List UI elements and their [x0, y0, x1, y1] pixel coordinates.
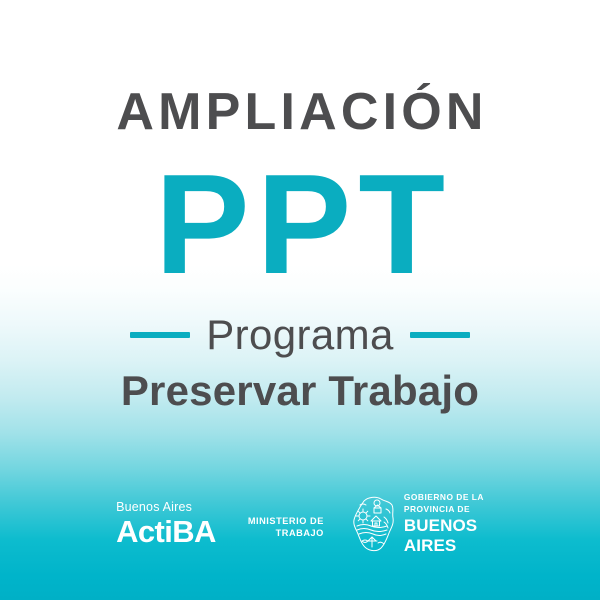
dash-rule-right — [410, 332, 470, 338]
program-acronym: PPT — [0, 154, 600, 296]
footer-logo-bar: Buenos Aires ActiBA MINISTERIO DE TRABAJ… — [0, 490, 600, 600]
logo-ministerio-trabajo: MINISTERIO DE TRABAJO — [248, 509, 324, 540]
government-line-4: AIRES — [404, 537, 484, 555]
buenos-aires-province-emblem-icon — [350, 495, 396, 553]
dash-rule-left — [130, 332, 190, 338]
ministry-line-2: TRABAJO — [248, 527, 324, 539]
program-name: Preservar Trabajo — [0, 370, 600, 412]
poster-canvas: AMPLIACIÓN PPT Programa Preservar Trabaj… — [0, 0, 600, 600]
program-label: Programa — [206, 314, 394, 356]
ministry-line-1: MINISTERIO DE — [248, 515, 324, 527]
government-line-2: PROVINCIA DE — [404, 504, 484, 515]
government-wordmark: GOBIERNO DE LA PROVINCIA DE BUENOS AIRES — [404, 492, 484, 555]
government-line-3: BUENOS — [404, 517, 484, 535]
actiba-wordmark: ActiBA — [116, 516, 216, 547]
program-label-row: Programa — [0, 314, 600, 356]
actiba-kicker: Buenos Aires — [116, 501, 216, 514]
logo-actiba: Buenos Aires ActiBA — [116, 501, 222, 548]
government-line-1: GOBIERNO DE LA — [404, 492, 484, 503]
headline-overline: AMPLIACIÓN — [0, 86, 600, 138]
headline-block: AMPLIACIÓN PPT — [0, 86, 600, 296]
logo-gobierno-provincia: GOBIERNO DE LA PROVINCIA DE BUENOS AIRES — [350, 492, 484, 555]
